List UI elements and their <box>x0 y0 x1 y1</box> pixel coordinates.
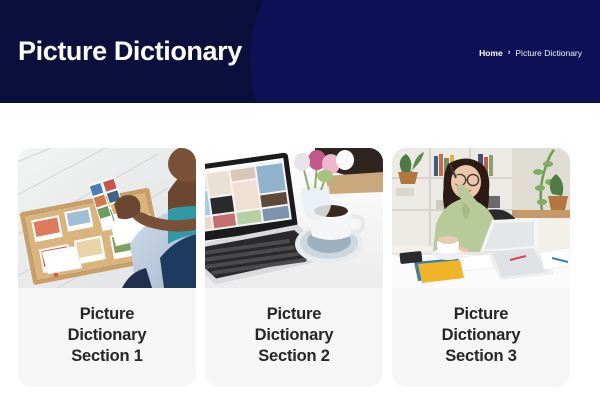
chevron-right-icon: › <box>508 48 511 56</box>
card-title-line-3: Section 3 <box>445 347 517 365</box>
breadcrumb-link-home[interactable]: Home <box>479 48 503 58</box>
card-title-line-1: Picture <box>267 305 322 323</box>
card-title: Picture Dictionary Section 2 <box>205 288 383 387</box>
card-picture-dictionary-section-2[interactable]: Picture Dictionary Section 2 <box>205 148 383 387</box>
card-title: Picture Dictionary Section 3 <box>392 288 570 387</box>
woman-desk-laptop-thumbnail <box>392 148 570 288</box>
header-content: Picture Dictionary Home › Picture Dictio… <box>0 0 600 103</box>
card-title-line-2: Dictionary <box>442 326 521 344</box>
page-header: Picture Dictionary Home › Picture Dictio… <box>0 0 600 103</box>
card-title-line-3: Section 1 <box>71 347 143 365</box>
card-picture-dictionary-section-1[interactable]: Picture Dictionary Section 1 <box>18 148 196 387</box>
laptop-image-grid-coffee-thumbnail <box>205 148 383 288</box>
page-title: Picture Dictionary <box>18 37 242 67</box>
breadcrumb: Home › Picture Dictionary <box>479 46 582 58</box>
card-title-line-3: Section 2 <box>258 347 330 365</box>
card-title-line-1: Picture <box>80 305 135 323</box>
card-picture-dictionary-section-3[interactable]: Picture Dictionary Section 3 <box>392 148 570 387</box>
section-card-grid: Picture Dictionary Section 1 <box>0 103 600 400</box>
breadcrumb-current-page: Picture Dictionary <box>515 48 582 58</box>
card-title-line-1: Picture <box>454 305 509 323</box>
card-title: Picture Dictionary Section 1 <box>18 288 196 387</box>
card-title-line-2: Dictionary <box>255 326 334 344</box>
photo-collage-corkboard-thumbnail <box>18 148 196 288</box>
card-title-line-2: Dictionary <box>68 326 147 344</box>
